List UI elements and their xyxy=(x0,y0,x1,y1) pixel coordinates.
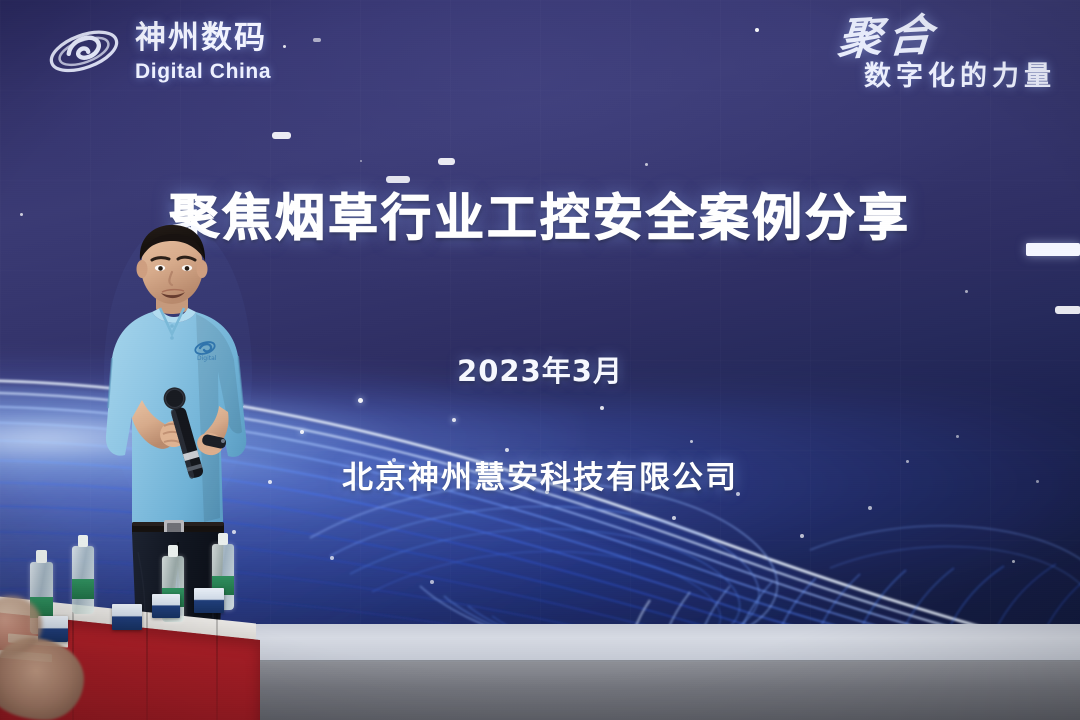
water-bottle xyxy=(72,546,94,614)
conference-photo: 神州数码 Digital China 聚合 数字化的力量 聚焦烟草行业工控安全案… xyxy=(0,0,1080,720)
name-card xyxy=(194,588,224,613)
cloth-fold xyxy=(146,612,148,720)
cloth-fold xyxy=(216,612,218,720)
name-card xyxy=(152,594,180,618)
campaign-calligraphy: 聚合 xyxy=(836,13,940,62)
swirl-galaxy-icon xyxy=(46,20,122,84)
brand-name-en: Digital China xyxy=(135,61,271,82)
svg-text:Digital: Digital xyxy=(197,355,217,362)
brand-name-cn: 神州数码 xyxy=(135,23,271,54)
name-card xyxy=(112,604,142,630)
campaign-block: 聚合 数字化的力量 xyxy=(838,16,1056,93)
screen-edge-bar xyxy=(1026,243,1080,256)
brand-logo: 神州数码 Digital China xyxy=(46,20,271,84)
